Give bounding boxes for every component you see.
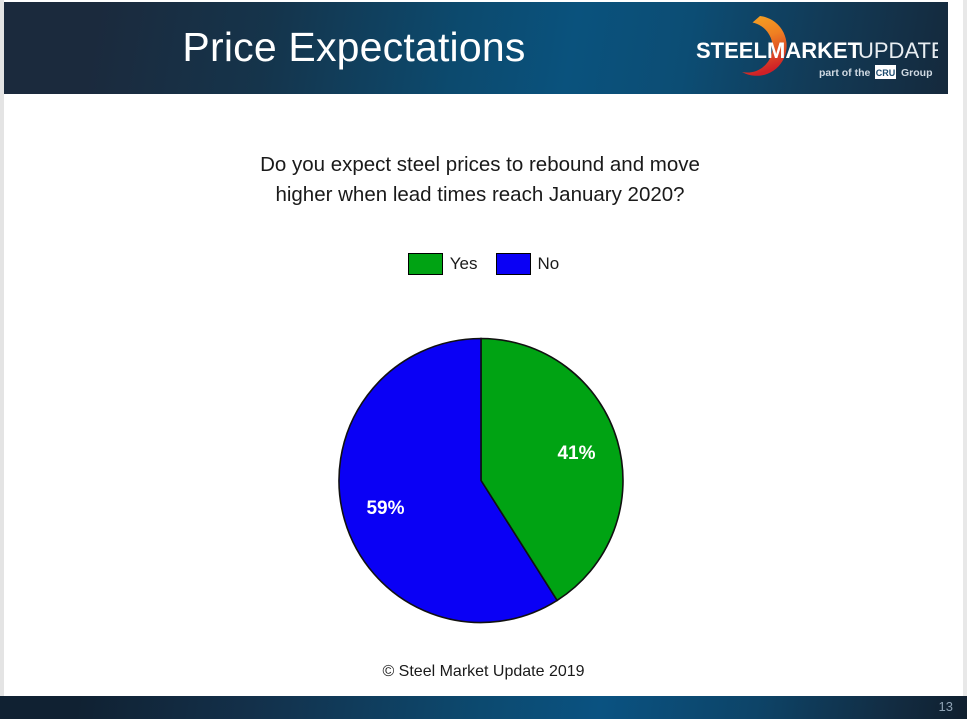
logo-word-steel: STEEL <box>696 38 767 63</box>
pie-data-label-yes: 41% <box>557 443 595 464</box>
legend-swatch-no <box>496 253 531 275</box>
pie-chart: 41% 59% <box>337 335 627 627</box>
slide-canvas: Price Expectations STEEL MARKET UPDAT <box>0 0 967 719</box>
page-number: 13 <box>939 698 953 716</box>
logo-tagline-after: Group <box>901 67 933 79</box>
logo-tagline-before: part of the <box>819 67 870 79</box>
chart-title-line-1: Do you expect steel prices to rebound an… <box>180 150 780 180</box>
slide-right-border <box>963 0 967 719</box>
chart-legend: Yes No <box>0 253 967 275</box>
cru-badge-label: CRU <box>876 68 896 78</box>
legend-label-no: No <box>538 253 560 275</box>
copyright-notice: © Steel Market Update 2019 <box>0 663 967 681</box>
legend-item-yes: Yes <box>408 253 478 275</box>
slide-header-banner: Price Expectations STEEL MARKET UPDAT <box>4 2 948 94</box>
legend-item-no: No <box>496 253 560 275</box>
slide-left-border <box>0 0 4 719</box>
pie-data-label-no: 59% <box>366 498 404 519</box>
legend-swatch-yes <box>408 253 443 275</box>
chart-title: Do you expect steel prices to rebound an… <box>180 150 780 210</box>
slide-footer-bar: 13 <box>0 696 967 719</box>
steel-market-update-logo: STEEL MARKET UPDATE part of the CRU Grou… <box>688 10 938 88</box>
chart-title-line-2: higher when lead times reach January 202… <box>180 180 780 210</box>
logo-word-market: MARKET <box>767 38 862 63</box>
pie-slices <box>339 339 623 623</box>
page-title: Price Expectations <box>4 19 704 75</box>
logo-word-update: UPDATE <box>858 38 938 63</box>
legend-label-yes: Yes <box>450 253 478 275</box>
